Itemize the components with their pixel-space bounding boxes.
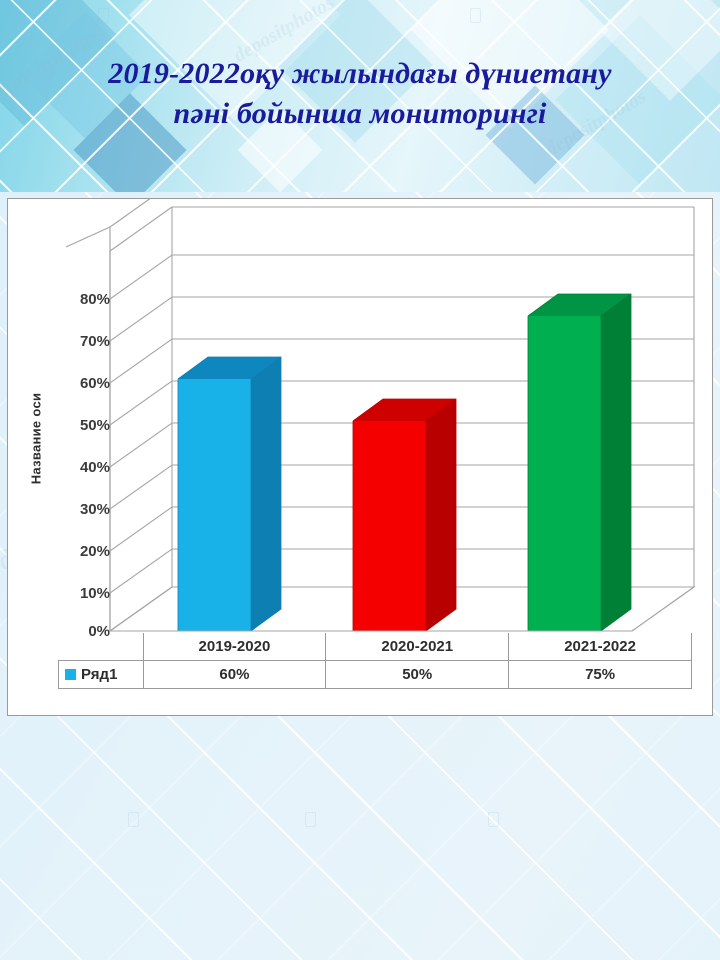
legend-series-label: Ряд1: [81, 666, 117, 683]
y-tick-80: 80%: [48, 291, 110, 308]
watermark-badge-icon: [128, 812, 139, 827]
watermark-badge-icon: [98, 8, 109, 23]
title-line-1: 2019-2022оқу жылындағы дүниетану: [0, 54, 720, 94]
legend-swatch-icon: [65, 669, 76, 680]
watermark-badge-icon: [488, 812, 499, 827]
y-tick-50: 50%: [48, 417, 110, 434]
table-header-2021-2022: 2021-2022: [509, 633, 692, 661]
y-tick-10: 10%: [48, 585, 110, 602]
title-line-2: пәні бойынша мониторингі: [0, 94, 720, 134]
chart-3d-column[interactable]: 80% 70% 60% 50% 40% 30% 20% 10% 0% Назва…: [7, 198, 713, 716]
table-value-2020-2021: 50%: [326, 661, 509, 689]
watermark-badge-icon: [305, 812, 316, 827]
table-row: Ряд1 60% 50% 75%: [59, 661, 692, 689]
chart-data-table: 2019-2020 2020-2021 2021-2022 Ряд1 60% 5…: [58, 633, 692, 689]
table-header-corner: [59, 633, 144, 661]
y-tick-60: 60%: [48, 375, 110, 392]
table-header-row: 2019-2020 2020-2021 2021-2022: [59, 633, 692, 661]
presentation-slide: depositphotos depositphotos depositphoto…: [0, 0, 720, 960]
legend-series-cell[interactable]: Ряд1: [59, 661, 144, 689]
y-tick-20: 20%: [48, 543, 110, 560]
bar-2020-2021: [353, 399, 456, 631]
table-value-2019-2020: 60%: [143, 661, 326, 689]
y-axis-title: Название оси: [29, 379, 44, 499]
slide-title: 2019-2022оқу жылындағы дүниетану пәні бо…: [0, 54, 720, 134]
y-tick-40: 40%: [48, 459, 110, 476]
bar-2021-2022: [528, 294, 631, 631]
table-value-2021-2022: 75%: [509, 661, 692, 689]
y-tick-30: 30%: [48, 501, 110, 518]
table-header-2019-2020: 2019-2020: [143, 633, 326, 661]
table-header-2020-2021: 2020-2021: [326, 633, 509, 661]
watermark-badge-icon: [470, 8, 481, 23]
y-tick-70: 70%: [48, 333, 110, 350]
bar-2019-2020: [178, 357, 281, 631]
